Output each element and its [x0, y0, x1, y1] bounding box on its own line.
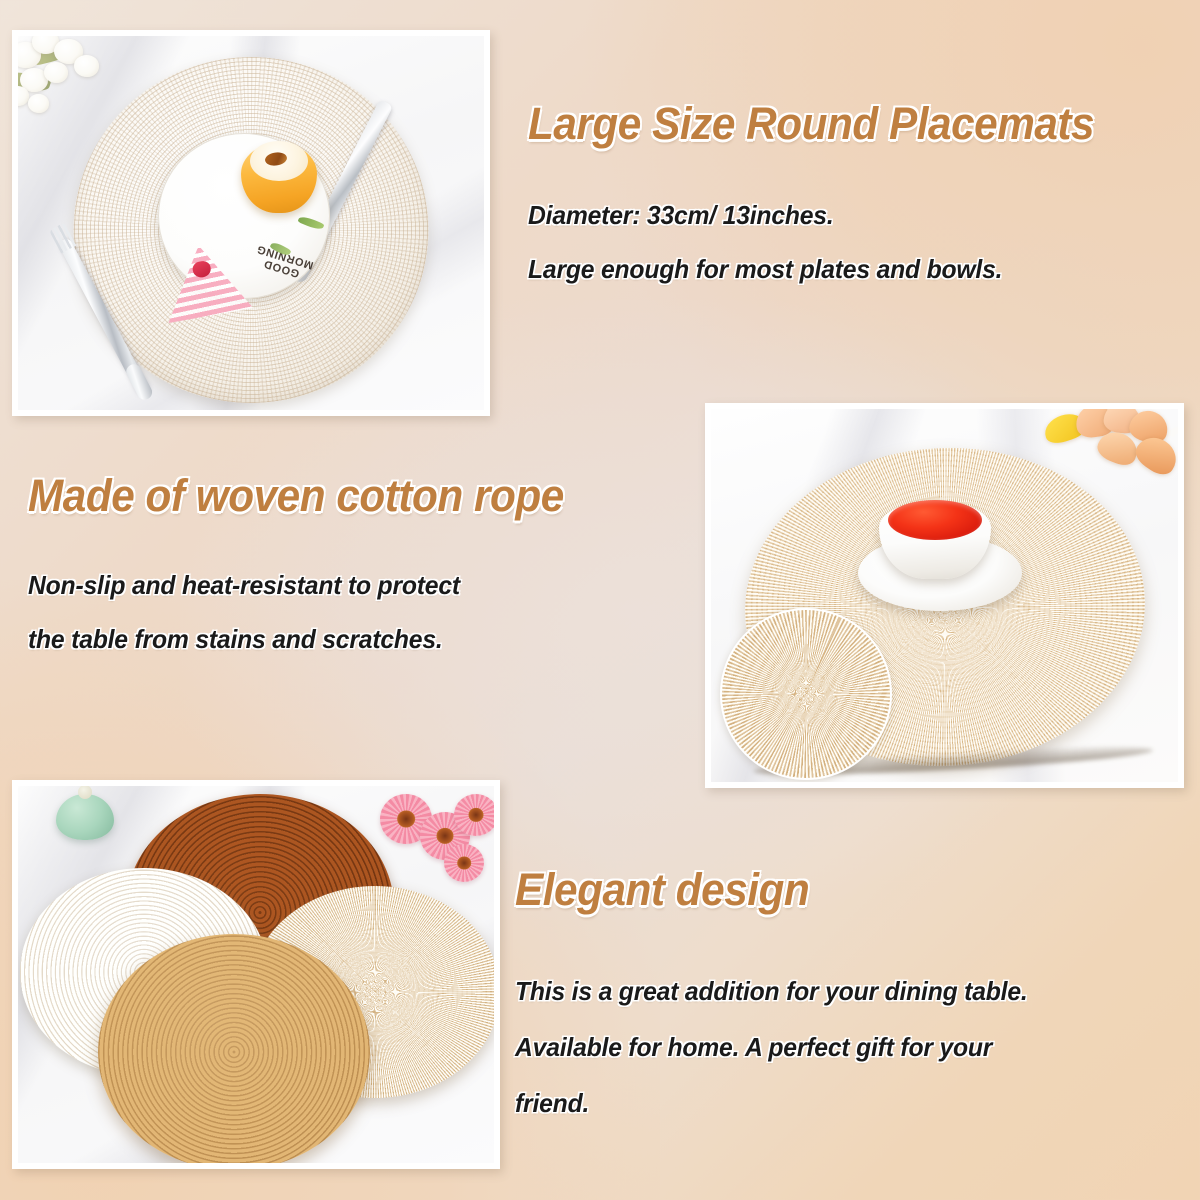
placemat-color-stack: [18, 786, 494, 1163]
product-photo-placemat-with-teacup: [705, 403, 1184, 788]
body-line-capacity: Large enough for most plates and bowls.: [528, 256, 1100, 282]
body-line-diameter: Diameter: 33cm/ 13inches.: [528, 202, 1100, 228]
body-size: Diameter: 33cm/ 13inches. Large enough f…: [528, 202, 1130, 282]
photo-3-inner: [18, 786, 494, 1163]
mango-mousse-cake: [241, 143, 317, 213]
product-photo-placemat-with-plate: GOOD MORNING: [12, 30, 490, 416]
body-line-friend: friend.: [515, 1090, 1028, 1116]
headline-elegant-design: Elegant design: [515, 866, 1022, 914]
feature-section-design: Elegant design This is a great addition …: [515, 866, 1055, 1146]
body-line-protect: the table from stains and scratches.: [28, 626, 570, 652]
headline-woven-cotton-rope: Made of woven cotton rope: [28, 472, 564, 520]
body-line-nonslip: Non-slip and heat-resistant to protect: [28, 572, 570, 598]
red-tea-liquid: [888, 500, 982, 540]
weave-detail-inset-circle: [720, 608, 892, 780]
photo-1-inner: GOOD MORNING: [18, 36, 484, 410]
feature-section-size: Large Size Round Placemats Diameter: 33c…: [528, 100, 1130, 282]
headline-large-size: Large Size Round Placemats: [528, 100, 1094, 148]
feature-section-material: Made of woven cotton rope Non-slip and h…: [28, 472, 598, 652]
placemat-camel-tan: [98, 934, 370, 1163]
body-design: This is a great addition for your dining…: [515, 978, 1055, 1116]
product-photo-placemat-color-variants: [12, 780, 500, 1169]
photo-2-inner: [711, 409, 1178, 782]
white-blossom-sprig: [18, 36, 132, 126]
body-line-gift: Available for home. A perfect gift for y…: [515, 1034, 1028, 1060]
body-line-addition: This is a great addition for your dining…: [515, 978, 1028, 1004]
body-material: Non-slip and heat-resistant to protect t…: [28, 572, 598, 652]
tulip-bouquet: [1038, 409, 1178, 493]
